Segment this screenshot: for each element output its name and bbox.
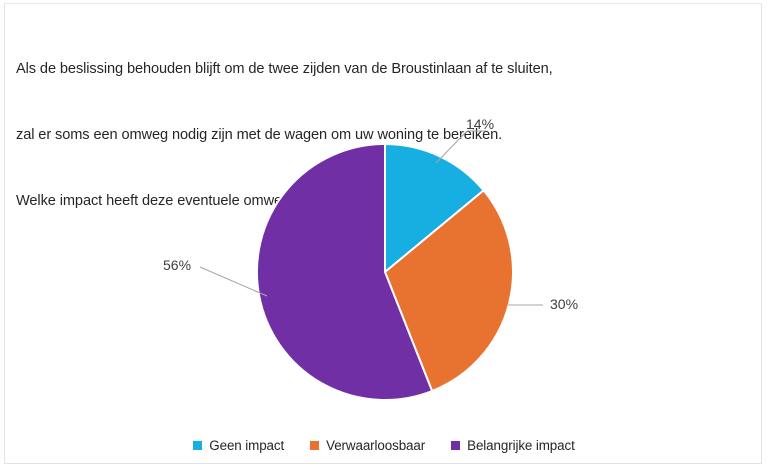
legend-swatch-icon xyxy=(193,441,202,450)
pie-label-geen-impact: 14% xyxy=(466,116,494,132)
legend-label-verwaarloosbaar: Verwaarloosbaar xyxy=(326,438,425,453)
legend-swatch-icon xyxy=(451,441,460,450)
chart-legend: Geen impact Verwaarloosbaar Belangrijke … xyxy=(0,438,768,453)
legend-item-geen-impact[interactable]: Geen impact xyxy=(193,438,284,453)
chart-screenshot: Als de beslissing behouden blijft om de … xyxy=(0,0,768,470)
pie-slices xyxy=(257,144,513,400)
legend-item-belangrijke-impact[interactable]: Belangrijke impact xyxy=(451,438,575,453)
pie-label-belangrijke-impact: 56% xyxy=(163,257,191,273)
pie-label-verwaarloosbaar: 30% xyxy=(550,296,578,312)
legend-swatch-icon xyxy=(310,441,319,450)
pie-chart xyxy=(0,0,768,470)
legend-label-geen-impact: Geen impact xyxy=(209,438,284,453)
legend-label-belangrijke-impact: Belangrijke impact xyxy=(467,438,575,453)
legend-item-verwaarloosbaar[interactable]: Verwaarloosbaar xyxy=(310,438,425,453)
